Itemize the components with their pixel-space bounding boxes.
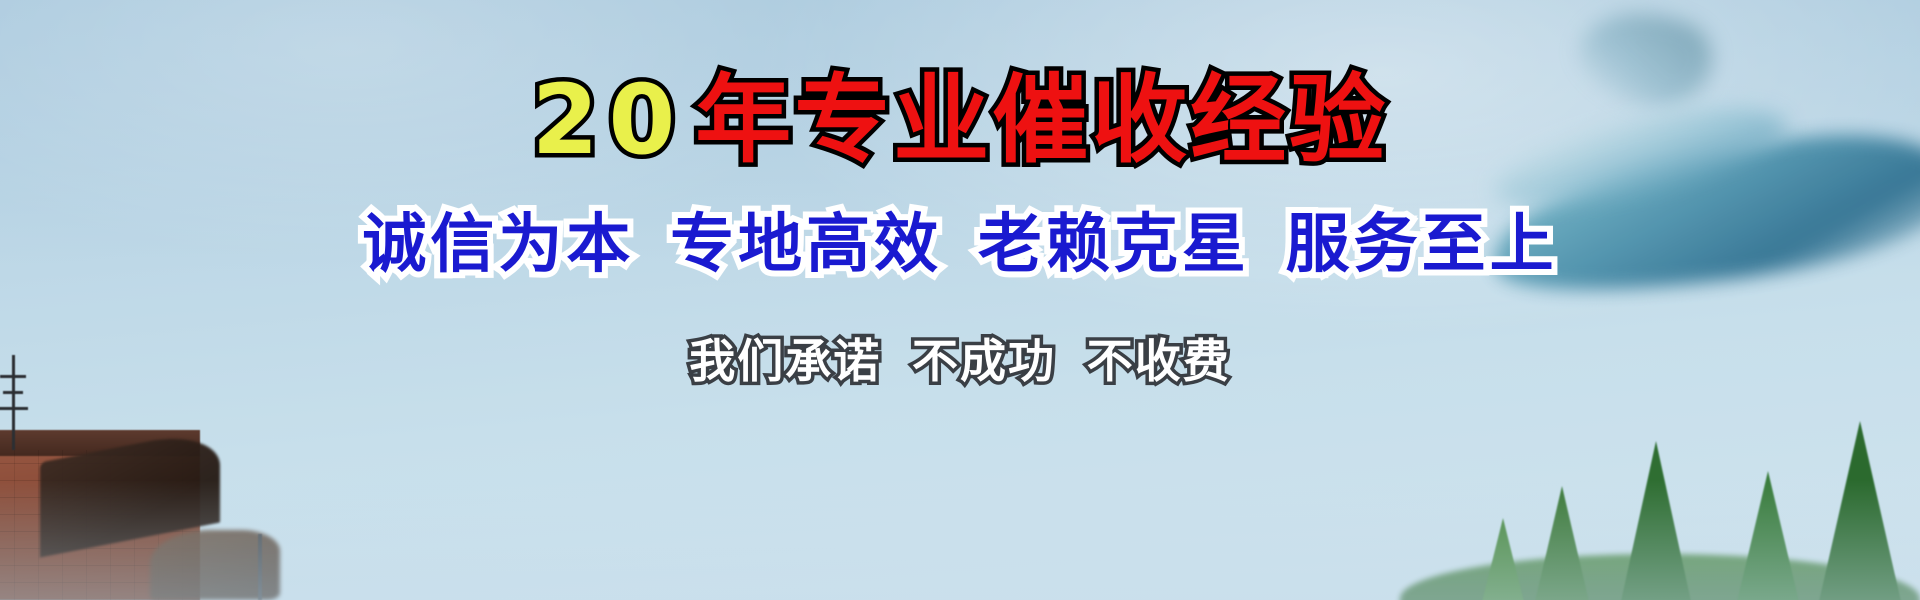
banner-text-block: 20年专业催收经验 诚信为本 专地高效 老赖克星 服务至上 我们承诺 不成功 不… xyxy=(0,0,1920,600)
subheadline: 诚信为本 专地高效 老赖克星 服务至上 xyxy=(0,212,1920,276)
subheadline-phrase-2: 专地高效 xyxy=(670,208,942,280)
promo-banner: 20年专业催收经验 诚信为本 专地高效 老赖克星 服务至上 我们承诺 不成功 不… xyxy=(0,0,1920,600)
headline-main-text: 年专业催收经验 xyxy=(695,67,1388,174)
headline: 20年专业催收经验 xyxy=(0,72,1920,169)
tagline: 我们承诺 不成功 不收费 xyxy=(0,338,1920,384)
headline-years-number: 20 xyxy=(532,64,686,176)
tagline-phrase-3: 不收费 xyxy=(1087,335,1231,387)
subheadline-phrase-1: 诚信为本 xyxy=(362,208,634,280)
subheadline-phrase-4: 服务至上 xyxy=(1286,208,1558,280)
tagline-phrase-2: 不成功 xyxy=(912,335,1056,387)
subheadline-phrase-3: 老赖克星 xyxy=(978,208,1250,280)
tagline-phrase-1: 我们承诺 xyxy=(689,335,881,387)
